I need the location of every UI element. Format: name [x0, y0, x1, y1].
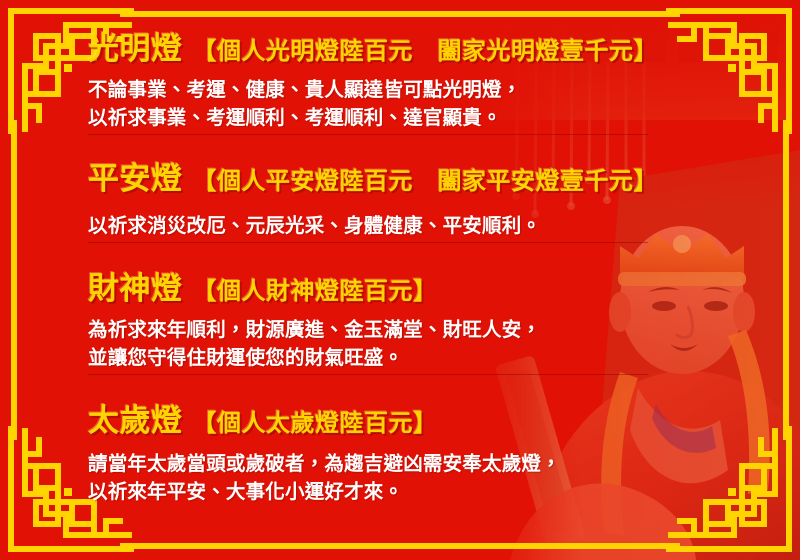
- lamp-name: 平安燈: [88, 160, 183, 200]
- section-heading: 光明燈 【個人光明燈陸百元 闔家光明燈壹千元】: [88, 30, 760, 70]
- section-body-line: 以祈求消災改厄、元辰光采、身體健康、平安順利。: [88, 212, 760, 240]
- frame-rail-right: [783, 120, 789, 440]
- section-body-line: 以祈來年平安、大事化小運好才來。: [88, 478, 760, 506]
- lamp-price: 【個人財神燈陸百元】: [193, 276, 438, 307]
- lamp-sections-list: 光明燈 【個人光明燈陸百元 闔家光明燈壹千元】 不論事業、考運、健康、貴人顯達皆…: [88, 24, 760, 507]
- lamp-name: 財神燈: [88, 270, 183, 310]
- section-body-line: 為祈求來年順利，財源廣進、金玉滿堂、財旺人安，: [88, 316, 760, 344]
- frame-rail-top: [120, 11, 680, 17]
- section-divider: [88, 134, 648, 135]
- section-body-line: 不論事業、考運、健康、貴人顯達皆可點光明燈，: [88, 76, 760, 104]
- lamp-section-caishen: 財神燈 【個人財神燈陸百元】 為祈求來年順利，財源廣進、金玉滿堂、財旺人安， 並…: [88, 242, 760, 372]
- lamp-offering-poster: 光明燈 【個人光明燈陸百元 闔家光明燈壹千元】 不論事業、考運、健康、貴人顯達皆…: [0, 0, 800, 560]
- lamp-name: 光明燈: [88, 30, 183, 70]
- lamp-price: 【個人平安燈陸百元 闔家平安燈壹千元】: [193, 166, 659, 197]
- section-body-line: 請當年太歲當頭或歲破者，為趨吉避凶需安奉太歲燈，: [88, 450, 760, 478]
- lamp-price: 【個人太歲燈陸百元】: [193, 408, 438, 439]
- frame-rail-bottom: [120, 543, 680, 549]
- section-divider: [88, 374, 648, 375]
- frame-rail-left: [11, 120, 17, 440]
- lamp-price: 【個人光明燈陸百元 闔家光明燈壹千元】: [193, 36, 659, 67]
- lamp-name: 太歲燈: [88, 402, 183, 442]
- section-divider: [88, 242, 648, 243]
- section-body-line: 並讓您守得住財運使您的財氣旺盛。: [88, 344, 760, 372]
- lamp-section-guangming: 光明燈 【個人光明燈陸百元 闔家光明燈壹千元】 不論事業、考運、健康、貴人顯達皆…: [88, 24, 760, 132]
- section-body-line: 以祈求事業、考運順利、考運順利、達官顯貴。: [88, 104, 760, 132]
- lamp-section-taisui: 太歲燈 【個人太歲燈陸百元】 請當年太歲當頭或歲破者，為趨吉避凶需安奉太歲燈， …: [88, 374, 760, 506]
- lamp-section-pingan: 平安燈 【個人平安燈陸百元 闔家平安燈壹千元】 以祈求消災改厄、元辰光采、身體健…: [88, 134, 760, 240]
- section-heading: 平安燈 【個人平安燈陸百元 闔家平安燈壹千元】: [88, 160, 760, 200]
- section-heading: 財神燈 【個人財神燈陸百元】: [88, 270, 760, 310]
- section-heading: 太歲燈 【個人太歲燈陸百元】: [88, 402, 760, 442]
